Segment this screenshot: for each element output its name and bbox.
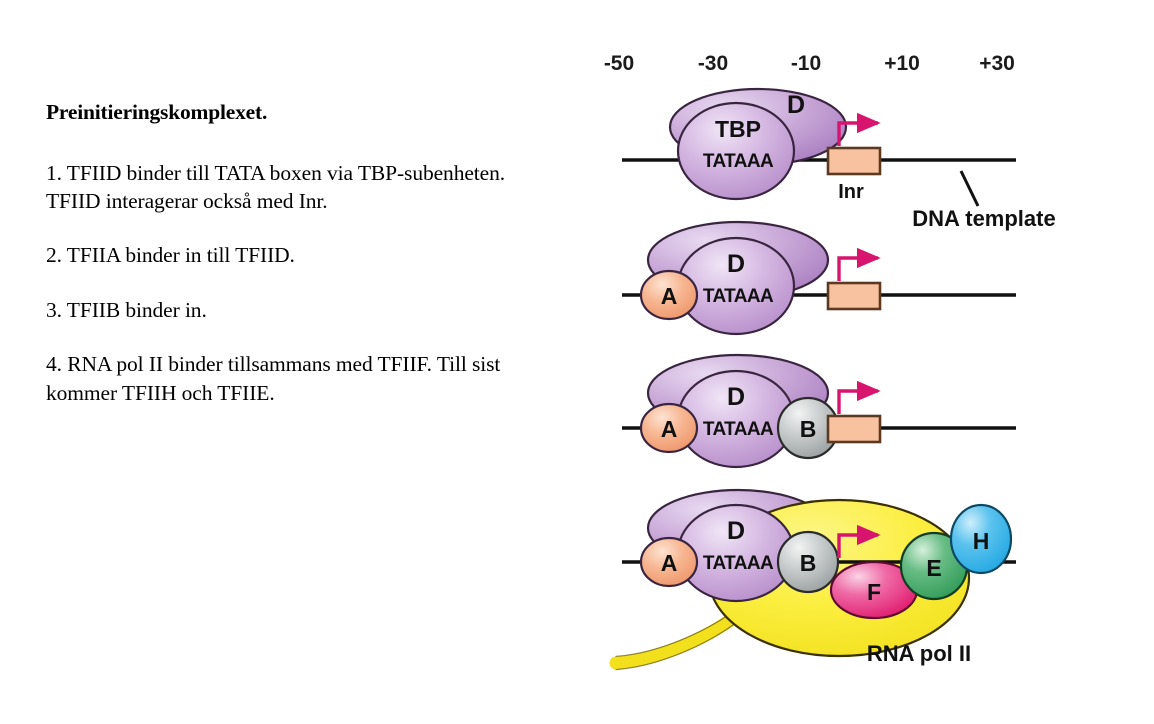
tfiid-d-label: D bbox=[727, 383, 745, 411]
inr-label: Inr bbox=[838, 181, 864, 203]
page-title: Preinitieringskomplexet. bbox=[46, 100, 546, 125]
tfiia-a-label: A bbox=[661, 550, 678, 576]
panel-1-tfiid-binding: D TBP TATAAA Inr DNA template bbox=[622, 89, 1056, 231]
dna-template-label: DNA template bbox=[912, 206, 1055, 231]
scale-tick-plus-30: +30 bbox=[979, 52, 1015, 75]
panel-2-tfiia-binding: D TATAAA A bbox=[622, 222, 1016, 334]
step-paragraph-3: 3. TFIIB binder in. bbox=[46, 296, 546, 324]
tata-sequence-label: TATAAA bbox=[703, 151, 774, 172]
rna-pol-ii-label: RNA pol II bbox=[867, 641, 971, 666]
step-paragraph-2: 2. TFIIA binder in till TFIID. bbox=[46, 241, 546, 269]
tfiif-f-label: F bbox=[867, 579, 881, 605]
scale-tick-minus-50: -50 bbox=[604, 52, 634, 75]
tata-sequence-label: TATAAA bbox=[703, 286, 774, 307]
step-paragraph-4: 4. RNA pol II binder tillsammans med TFI… bbox=[46, 350, 546, 407]
inr-box bbox=[828, 283, 880, 309]
step-paragraph-1: 1. TFIID binder till TATA boxen via TBP-… bbox=[46, 159, 546, 216]
tfiid-d-label: D bbox=[727, 517, 745, 545]
position-scale: -50 -30 -10 +10 +30 bbox=[604, 52, 1015, 75]
dna-template-leader-line bbox=[961, 171, 978, 206]
transcription-start-arrow bbox=[839, 391, 878, 414]
text-column: Preinitieringskomplexet. 1. TFIID binder… bbox=[46, 100, 546, 407]
tfiia-a-label: A bbox=[661, 416, 678, 442]
scale-tick-plus-10: +10 bbox=[884, 52, 920, 75]
tfiia-a-label: A bbox=[661, 283, 678, 309]
tfiid-d-label: D bbox=[727, 250, 745, 278]
transcription-start-arrow bbox=[839, 258, 878, 281]
tata-sequence-label: TATAAA bbox=[703, 553, 774, 574]
preinitiation-complex-diagram: -50 -30 -10 +10 +30 D TBP TATAAA bbox=[586, 38, 1086, 688]
slide-canvas: Preinitieringskomplexet. 1. TFIID binder… bbox=[0, 0, 1154, 724]
tbp-label: TBP bbox=[715, 116, 761, 142]
panel-4-rna-pol-ii-holoenzyme: D TATAAA A B F E H R bbox=[616, 490, 1016, 670]
tfiih-h-label: H bbox=[973, 528, 990, 554]
scale-tick-minus-30: -30 bbox=[698, 52, 728, 75]
tfiid-d-label: D bbox=[787, 91, 805, 119]
inr-box bbox=[828, 148, 880, 174]
scale-tick-minus-10: -10 bbox=[791, 52, 821, 75]
tfiie-e-label: E bbox=[926, 555, 941, 581]
tfiib-b-label: B bbox=[800, 416, 817, 442]
tfiib-b-label: B bbox=[800, 550, 817, 576]
tata-sequence-label: TATAAA bbox=[703, 419, 774, 440]
inr-box bbox=[828, 416, 880, 442]
panel-3-tfiib-binding: D TATAAA A B bbox=[622, 355, 1016, 467]
